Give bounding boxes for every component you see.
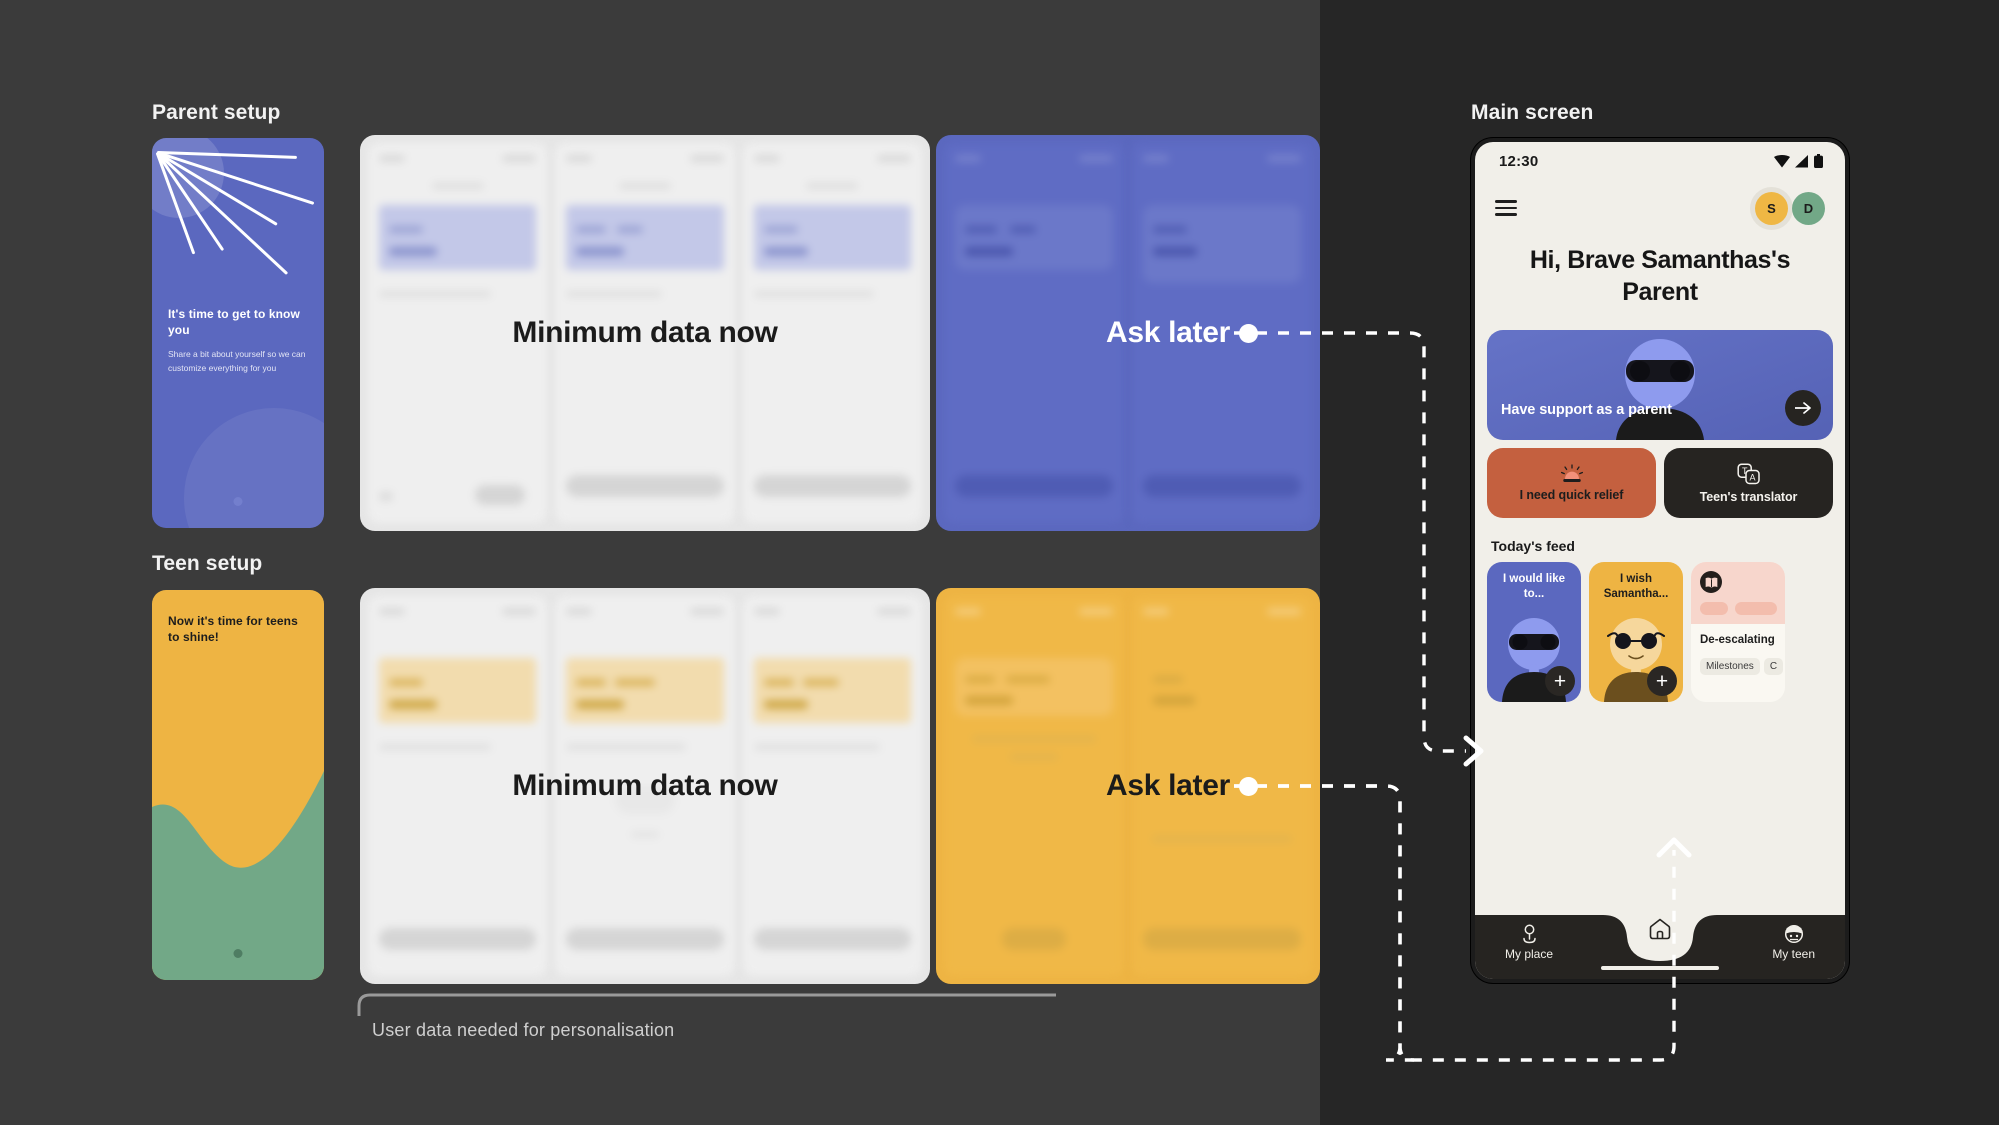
svg-text:A: A — [1749, 472, 1755, 482]
avatar-s[interactable]: S — [1755, 192, 1788, 225]
avatar-group: S D — [1755, 192, 1825, 225]
parent-ask-later-group[interactable]: Ask later — [936, 135, 1320, 531]
nav-item-my-place[interactable]: My place — [1505, 924, 1553, 961]
article-tag[interactable]: Milestones — [1700, 658, 1760, 675]
parent-minimum-data-group[interactable]: Minimum data now — [360, 135, 930, 531]
feed-card-text: I wish Samantha... — [1589, 572, 1683, 602]
feed-card-teen-prompt[interactable]: I wish Samantha... + — [1589, 562, 1683, 702]
quick-relief-label: I need quick relief — [1520, 488, 1624, 502]
page-indicator-dot — [234, 497, 243, 506]
wireframe-screen — [743, 596, 922, 976]
article-tag[interactable]: C — [1764, 658, 1783, 675]
article-thumbnail — [1691, 562, 1785, 624]
article-tags: Milestones C — [1700, 658, 1785, 675]
page-indicator-dot — [234, 949, 243, 958]
teen-intro-card[interactable]: Now it's time for teens to shine! — [152, 590, 324, 980]
teen-setup-label: Teen setup — [152, 552, 262, 576]
home-indicator — [1601, 966, 1719, 971]
quick-actions-row: I need quick relief T A Teen's translato… — [1487, 448, 1833, 518]
parent-intro-title: It's time to get to know you — [168, 306, 310, 338]
battery-icon — [1814, 154, 1823, 168]
parent-avatar-illustration — [1590, 338, 1730, 440]
parent-setup-label: Parent setup — [152, 101, 280, 125]
teen-intro-title: Now it's time for teens to shine! — [168, 613, 310, 645]
teen-minimum-data-group[interactable]: Minimum data now — [360, 588, 930, 984]
arrow-right-icon — [1795, 402, 1812, 414]
status-bar: 12:30 — [1475, 142, 1845, 180]
hero-title: Have support as a parent — [1501, 402, 1672, 418]
decor-blob — [184, 408, 324, 528]
avatar-initial: S — [1767, 201, 1776, 216]
status-icons — [1774, 154, 1823, 168]
app-bar: S D — [1475, 180, 1845, 236]
teen-translator-label: Teen's translator — [1700, 490, 1798, 504]
wireframe-screen — [555, 596, 734, 976]
translate-icon: T A — [1737, 463, 1761, 485]
nav-item-my-teen[interactable]: My teen — [1772, 924, 1815, 961]
parent-flow-anchor — [1239, 324, 1258, 343]
canvas: Parent setup Teen setup Main screen It's… — [0, 0, 1999, 1125]
hamburger-menu-icon[interactable] — [1495, 200, 1517, 215]
wireframe-screen — [944, 596, 1124, 976]
nav-label: My place — [1505, 947, 1553, 961]
feed-card-article[interactable]: De-escalating Milestones C — [1691, 562, 1785, 702]
teen-face-icon — [1784, 924, 1804, 944]
alarm-light-icon — [1560, 464, 1584, 483]
parent-intro-subtitle: Share a bit about yourself so we can cus… — [168, 347, 310, 375]
wireframe-screen — [368, 596, 547, 976]
wifi-icon — [1774, 155, 1790, 168]
location-pin-icon — [1520, 924, 1539, 944]
home-icon — [1649, 918, 1671, 940]
greeting-title: Hi, Brave Samanthas's Parent — [1475, 236, 1845, 308]
signal-icon — [1795, 155, 1809, 168]
teen-translator-button[interactable]: T A Teen's translator — [1664, 448, 1833, 518]
hero-arrow-button[interactable] — [1785, 390, 1821, 426]
wireframe-screen — [368, 143, 547, 523]
wireframe-screen — [944, 143, 1124, 523]
bottom-navigation: My place — [1475, 901, 1845, 979]
feed-heading: Today's feed — [1491, 538, 1845, 554]
quick-relief-button[interactable]: I need quick relief — [1487, 448, 1656, 518]
green-wave-decoration — [152, 735, 324, 980]
add-button[interactable]: + — [1545, 666, 1575, 696]
grouping-bracket — [356, 992, 1056, 1018]
teen-flow-anchor — [1239, 777, 1258, 796]
nav-item-home[interactable] — [1649, 918, 1671, 945]
parent-intro-card[interactable]: It's time to get to know you Share a bit… — [152, 138, 324, 528]
add-button[interactable]: + — [1647, 666, 1677, 696]
phone-screen: 12:30 — [1475, 142, 1845, 979]
book-icon — [1700, 571, 1722, 593]
support-hero-card[interactable]: Have support as a parent — [1487, 330, 1833, 440]
nav-label: My teen — [1772, 947, 1815, 961]
flow-caption: User data needed for personalisation — [372, 1020, 674, 1041]
article-title: De-escalating — [1700, 634, 1785, 646]
wireframe-screen — [1132, 143, 1312, 523]
wireframe-screen — [1132, 596, 1312, 976]
main-screen-label: Main screen — [1471, 101, 1594, 125]
teen-ask-later-group[interactable]: Ask later — [936, 588, 1320, 984]
status-time: 12:30 — [1499, 153, 1538, 170]
avatar-d[interactable]: D — [1792, 192, 1825, 225]
feed-card-parent-prompt[interactable]: I would like to... + — [1487, 562, 1581, 702]
feed-card-text: I would like to... — [1487, 572, 1581, 602]
wireframe-screen — [555, 143, 734, 523]
feed-carousel[interactable]: I would like to... + I wish Samantha... — [1487, 562, 1845, 702]
avatar-initial: D — [1804, 201, 1813, 216]
wireframe-screen — [743, 143, 922, 523]
main-screen-phone: 12:30 — [1471, 138, 1849, 983]
